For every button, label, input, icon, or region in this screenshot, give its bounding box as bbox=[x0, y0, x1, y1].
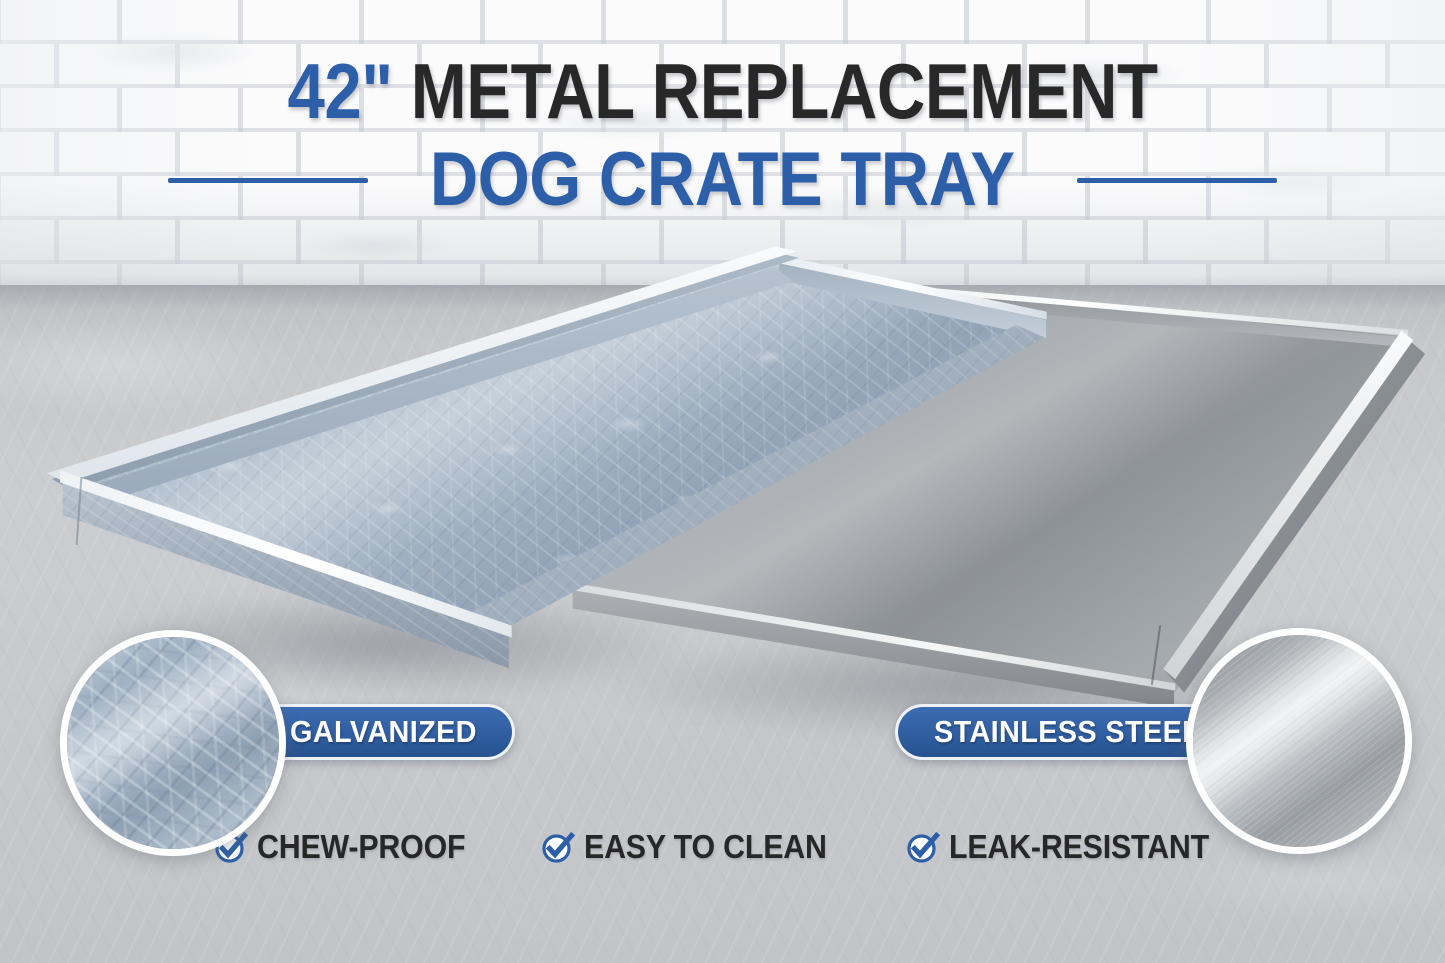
feature-label: EASY TO CLEAN bbox=[584, 828, 827, 866]
headline-rule-left bbox=[168, 178, 368, 183]
feature-item: EASY TO CLEAN bbox=[541, 828, 848, 866]
check-circle-icon bbox=[906, 830, 940, 864]
galvanized-swatch-sheen bbox=[67, 637, 279, 849]
feature-item: LEAK-RESISTANT bbox=[906, 828, 1232, 866]
stainless-swatch-circle bbox=[1186, 628, 1412, 854]
headline-line-2-row: DOG CRATE TRAY bbox=[0, 142, 1445, 218]
stainless-swatch-sheen bbox=[1193, 635, 1405, 847]
headline-line-1: 42" METAL REPLACEMENT bbox=[101, 52, 1344, 130]
headline-block: 42" METAL REPLACEMENT DOG CRATE TRAY bbox=[0, 52, 1445, 218]
headline-line-2-text: DOG CRATE TRAY bbox=[430, 142, 1015, 218]
headline-line-1-text: METAL REPLACEMENT bbox=[411, 47, 1158, 135]
galvanized-label-text: GALVANIZED bbox=[290, 714, 477, 750]
product-marketing-image: 42" METAL REPLACEMENT DOG CRATE TRAY GAL… bbox=[0, 0, 1445, 963]
galvanized-label-pill: GALVANIZED bbox=[255, 704, 515, 760]
check-circle-icon bbox=[541, 830, 575, 864]
feature-label: LEAK-RESISTANT bbox=[949, 828, 1209, 866]
feature-label: CHEW-PROOF bbox=[257, 828, 465, 866]
stainless-label-text: STAINLESS STEEL bbox=[934, 714, 1200, 750]
stainless-label-pill: STAINLESS STEEL bbox=[895, 704, 1195, 760]
headline-size: 42" bbox=[287, 47, 392, 135]
headline-rule-right bbox=[1077, 178, 1277, 183]
galvanized-swatch-circle bbox=[60, 630, 286, 856]
galvanized-tray bbox=[48, 248, 1048, 668]
